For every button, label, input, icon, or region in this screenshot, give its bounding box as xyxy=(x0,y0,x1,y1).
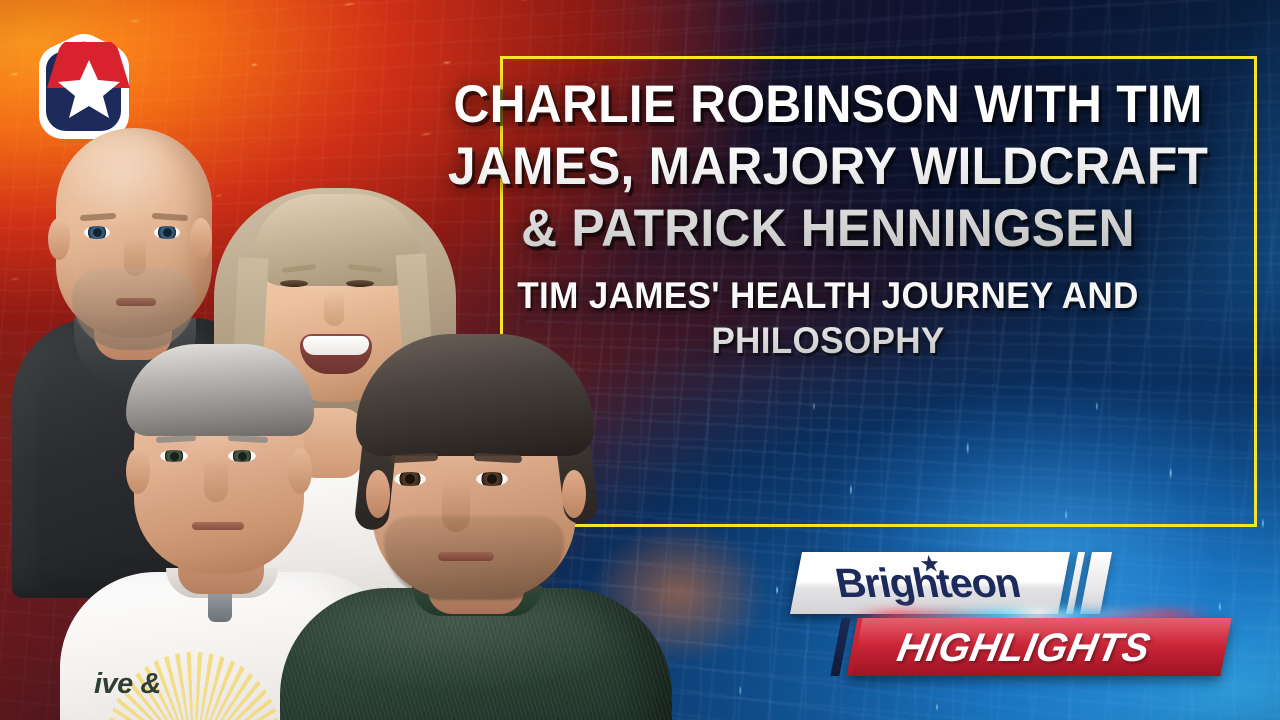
brighteon-banner-slashes xyxy=(1066,552,1124,614)
brighteon-banner-slash-2 xyxy=(1080,552,1112,614)
brighteon-star-icon xyxy=(919,555,940,573)
title-block: CHARLIE ROBINSON WITH TIM JAMES, MARJORY… xyxy=(410,74,1246,363)
person-3-pupil-left xyxy=(170,452,179,461)
person-3-nose xyxy=(204,458,228,502)
person-1-ear-left xyxy=(48,218,70,260)
person-3-tshirt-text: ive & xyxy=(94,668,284,701)
person-1-mouth xyxy=(116,298,156,306)
person-4-ear-left xyxy=(366,470,390,518)
thumbnail-canvas: ive & xyxy=(0,0,1280,720)
person-3-mouth xyxy=(192,522,244,530)
person-4-mouth xyxy=(438,552,494,561)
brighteon-highlights-badge: Brighteon HIGHLIGHTS xyxy=(790,552,1230,680)
person-4-dark-haired-man xyxy=(292,338,662,720)
video-title: CHARLIE ROBINSON WITH TIM JAMES, MARJORY… xyxy=(435,74,1221,260)
video-subtitle: TIM JAMES' HEALTH JOURNEY AND PHILOSOPHY xyxy=(431,273,1225,363)
person-3-pupil-right xyxy=(238,452,247,461)
person-4-pupil-right xyxy=(487,474,497,484)
person-4-ear-right xyxy=(562,470,586,518)
person-2-eye-left xyxy=(280,280,308,287)
person-2-eye-right xyxy=(346,280,374,287)
person-1-pupil-right xyxy=(163,228,172,237)
person-3-ear-left xyxy=(126,448,150,494)
person-1-pupil-left xyxy=(93,228,102,237)
person-2-hair-front xyxy=(254,194,420,286)
highlights-label: HIGHLIGHTS xyxy=(894,626,1154,670)
person-2-nose xyxy=(324,290,344,326)
person-3-hair xyxy=(126,344,314,436)
person-4-pupil-left xyxy=(405,474,415,484)
